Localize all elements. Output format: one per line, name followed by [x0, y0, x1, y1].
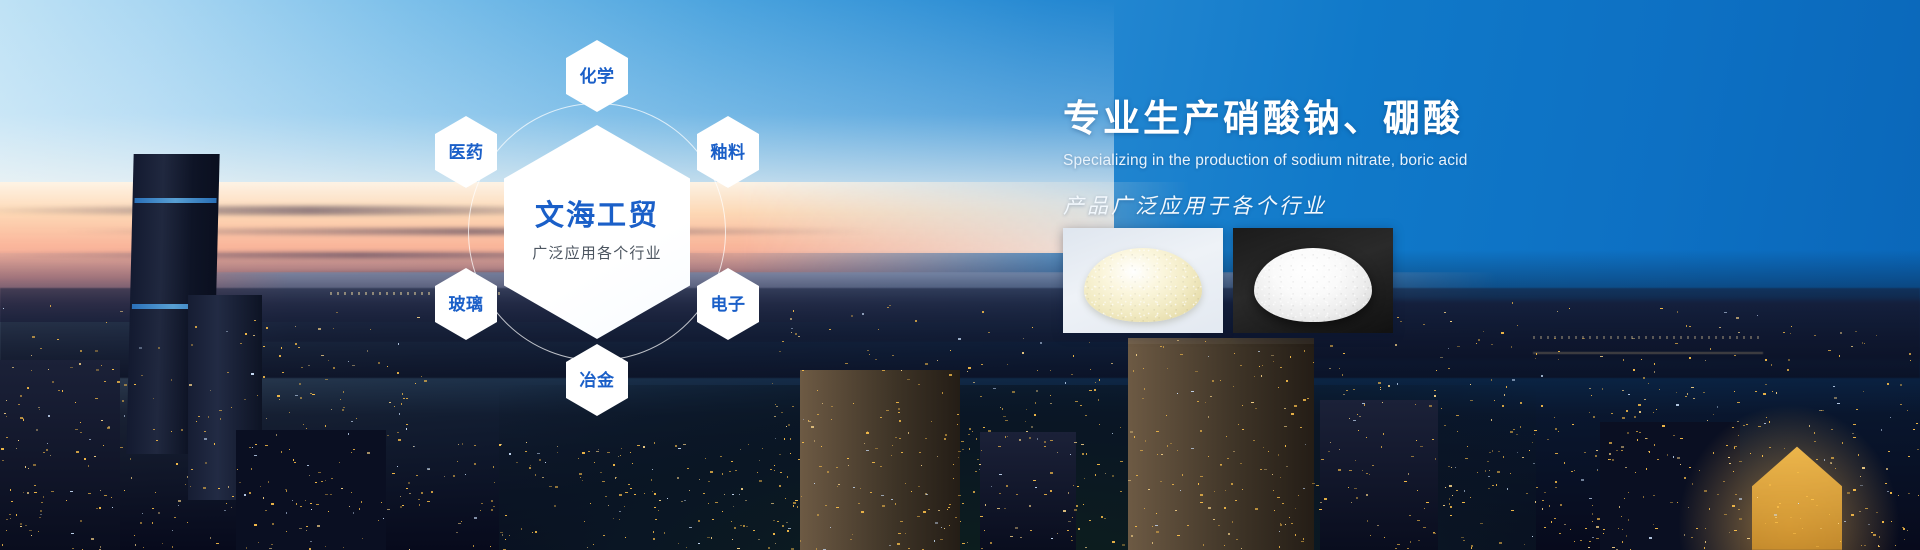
english-subhead: Specializing in the production of sodium… [1063, 152, 1703, 170]
city-window-lights [0, 0, 1920, 550]
product-photo-boric-acid[interactable] [1233, 228, 1393, 333]
industry-hexagon-diagram: 文海工贸 广泛应用各个行业 化学 釉料 电子 冶金 玻璃 医药 [432, 22, 762, 442]
tagline: 产品广泛应用于各个行业 [1063, 190, 1703, 220]
company-name: 文海工贸 [535, 201, 659, 233]
industry-label: 化学 [580, 68, 615, 85]
industry-hexagon-chemistry[interactable]: 化学 [566, 40, 628, 112]
company-tagline: 广泛应用各个行业 [532, 242, 662, 263]
product-photo-sodium-nitrate[interactable] [1063, 228, 1223, 333]
powder-pile [1084, 248, 1202, 322]
powder-pile [1254, 248, 1372, 322]
industry-label: 医药 [449, 144, 484, 161]
headline: 专业生产硝酸钠、硼酸 [1063, 96, 1703, 141]
promotional-banner: 文海工贸 广泛应用各个行业 化学 釉料 电子 冶金 玻璃 医药 专业生产硝酸钠、… [0, 0, 1920, 550]
headline-block: 专业生产硝酸钠、硼酸 Specializing in the productio… [1063, 96, 1703, 220]
industry-label: 冶金 [580, 372, 615, 389]
industry-label: 玻璃 [449, 296, 484, 313]
product-photo-row [1063, 228, 1393, 333]
industry-label: 电子 [711, 296, 746, 313]
industry-label: 釉料 [711, 144, 746, 161]
